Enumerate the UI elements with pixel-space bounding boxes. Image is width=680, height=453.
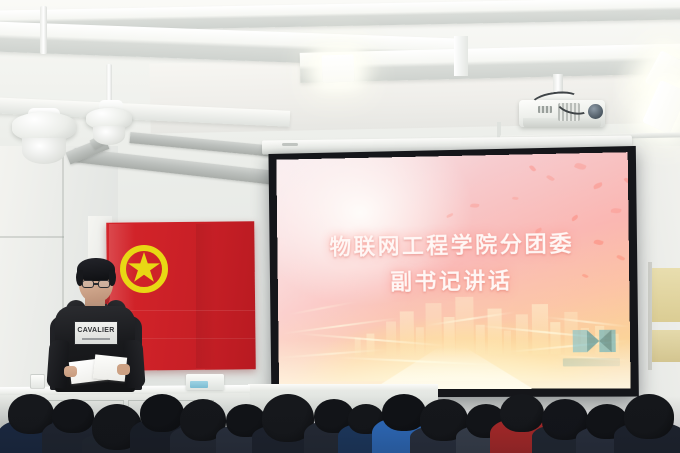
speaker-glasses-bridge	[94, 283, 98, 285]
slide-logo-icon	[573, 328, 616, 355]
ceiling-fan-1-rod	[40, 6, 47, 54]
speaker-hand-right	[117, 364, 130, 375]
speaker-hand-left	[64, 366, 77, 377]
audience-shadow-overlay	[0, 396, 680, 453]
desk-item-cup-1	[30, 374, 45, 389]
slide-logo-wordmark	[563, 358, 620, 366]
projection-screen: 物联网工程学院分团委 副书记讲话	[276, 152, 630, 389]
speaker-chest-text: CAVALIER	[75, 327, 117, 334]
ceiling-beam-drop	[454, 36, 468, 76]
wall-panel-seam-2	[0, 236, 64, 238]
speaker-chest-underline	[82, 338, 110, 340]
control-unit-panel	[190, 381, 208, 388]
speaker-glasses-left-lens	[82, 280, 94, 288]
speaker-glasses-right-lens	[98, 280, 110, 288]
flag-fold-shadow	[196, 224, 216, 368]
ceiling-fan-2-cap	[93, 126, 125, 145]
projector-lens-icon	[588, 104, 603, 119]
ceiling-fan-1-cap	[22, 138, 66, 164]
wall-poster-1	[652, 268, 680, 322]
fluorescent-lamp-1	[322, 54, 355, 82]
classroom-photo-scene: 物联网工程学院分团委 副书记讲话 CAVALIER	[0, 0, 680, 453]
wall-poster-2	[652, 330, 680, 362]
speaker-arm-left	[46, 339, 69, 388]
slide-title: 物联网工程学院分团委	[277, 227, 629, 264]
slide-subtitle: 副书记讲话	[278, 262, 630, 298]
screen-housing-label	[282, 143, 298, 146]
